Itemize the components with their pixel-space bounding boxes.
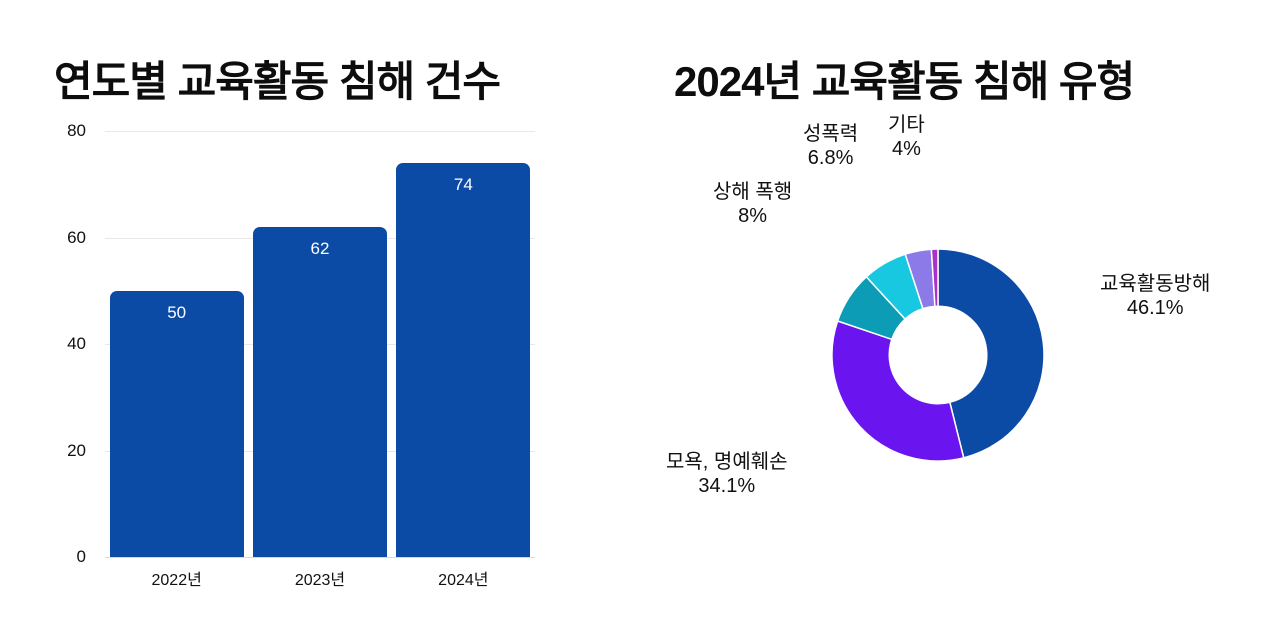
- donut-slice-모욕, 명예훼손[interactable]: [832, 321, 964, 461]
- donut-label-percent: 8%: [713, 204, 792, 228]
- bar-value-2024년: 74: [454, 175, 473, 195]
- bar-value-2022년: 50: [167, 303, 186, 323]
- gridline-80: [105, 131, 535, 132]
- bar-chart: 020406080502022년622023년742024년: [0, 100, 620, 600]
- y-axis-tick-20: 20: [40, 441, 86, 461]
- y-axis-tick-40: 40: [40, 334, 86, 354]
- bar-2022년[interactable]: [110, 291, 244, 557]
- donut-label-name: 성폭력: [803, 123, 858, 145]
- donut-chart: 교육활동방해46.1%모욕, 명예훼손34.1%상해 폭행8%성폭력6.8%기타…: [640, 0, 1280, 617]
- donut-label-기타: 기타4%: [888, 113, 925, 162]
- donut-label-상해 폭행: 상해 폭행8%: [713, 180, 792, 229]
- donut-label-percent: 34.1%: [666, 474, 788, 498]
- donut-label-name: 교육활동방해: [1100, 273, 1210, 295]
- donut-label-교육활동방해: 교육활동방해46.1%: [1100, 272, 1210, 321]
- bar-2023년[interactable]: [253, 227, 387, 557]
- donut-label-name: 기타: [888, 114, 925, 136]
- donut-label-percent: 6.8%: [803, 146, 858, 170]
- bar-value-2023년: 62: [311, 239, 330, 259]
- y-axis-tick-60: 60: [40, 228, 86, 248]
- x-axis-label-2023년: 2023년: [295, 566, 345, 590]
- donut-label-percent: 46.1%: [1100, 296, 1210, 320]
- x-axis-label-2024년: 2024년: [438, 566, 488, 590]
- donut-label-성폭력: 성폭력6.8%: [803, 122, 858, 171]
- x-axis-line: [105, 557, 535, 558]
- y-axis-tick-0: 0: [40, 547, 86, 567]
- infographic-page: 연도별 교육활동 침해 건수 020406080502022년622023년74…: [0, 0, 1280, 617]
- donut-label-모욕, 명예훼손: 모욕, 명예훼손34.1%: [666, 450, 788, 499]
- bar-2024년[interactable]: [396, 163, 530, 557]
- donut-label-name: 상해 폭행: [713, 181, 792, 203]
- donut-label-percent: 4%: [888, 137, 925, 161]
- x-axis-label-2022년: 2022년: [151, 566, 201, 590]
- donut-label-name: 모욕, 명예훼손: [666, 451, 788, 473]
- y-axis-tick-80: 80: [40, 121, 86, 141]
